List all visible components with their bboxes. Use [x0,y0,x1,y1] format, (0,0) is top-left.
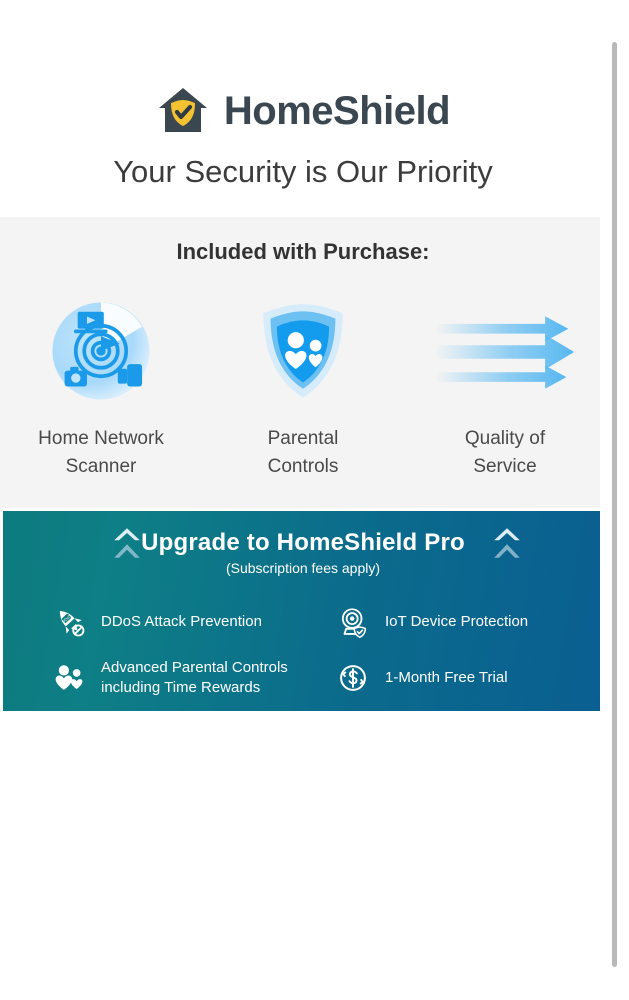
feature-label: Quality ofService [405,425,605,482]
included-title: Included with Purchase: [0,239,606,265]
pro-feature-label: DDoS Attack Prevention [101,612,262,632]
feature-label: Home NetworkScanner [1,425,201,482]
page-content: HomeShield Your Security is Our Priority… [0,0,606,1000]
pro-feature-grid: DDoS DDoS Attack Prevention [3,598,603,710]
feature-list: Home NetworkScanner [0,291,606,482]
radar-scan-icon [1,291,201,411]
shield-family-icon [203,291,403,411]
dollar-refresh-circle-icon [335,660,371,696]
double-chevron-up-icon [111,525,143,570]
pro-feature-1-month-free-trial: 1-Month Free Trial [335,654,603,702]
rocket-blocked-icon: DDoS [51,604,87,640]
pro-feature-ddos-attack-prevention: DDoS DDoS Attack Prevention [51,598,303,646]
family-people-icon [51,660,87,696]
page-root: HomeShield Your Security is Our Priority… [0,0,629,1000]
pro-feature-label: 1-Month Free Trial [385,668,508,688]
pro-feature-advanced-parental-controls: Advanced Parental Controlsincluding Time… [51,654,303,702]
feature-quality-of-service: Quality ofService [405,291,605,482]
house-shield-check-icon [156,84,210,138]
feature-label: ParentalControls [203,425,403,482]
brand-name: HomeShield [224,91,450,131]
pro-feature-label: IoT Device Protection [385,612,528,632]
feature-home-network-scanner: Home NetworkScanner [1,291,201,482]
vertical-scrollbar[interactable] [600,0,629,1000]
brand-tagline: Your Security is Our Priority [0,154,606,190]
logo-row: HomeShield [0,84,606,138]
included-section: Included with Purchase: [0,217,606,508]
pro-feature-column-left: DDoS DDoS Attack Prevention [3,598,303,710]
scrollbar-thumb[interactable] [612,42,617,967]
speed-arrows-icon [405,291,605,411]
pro-feature-iot-device-protection: IoT Device Protection [335,598,603,646]
upgrade-pro-banner[interactable]: Upgrade to HomeShield Pro (Subscription … [3,511,603,711]
pro-feature-label: Advanced Parental Controlsincluding Time… [101,658,288,697]
double-chevron-up-icon [491,525,523,570]
feature-parental-controls: ParentalControls [203,291,403,482]
brand-header: HomeShield Your Security is Our Priority [0,0,606,190]
pro-banner-header: Upgrade to HomeShield Pro (Subscription … [3,511,603,576]
webcam-shield-check-icon [335,604,371,640]
pro-feature-column-right: IoT Device Protection 1- [303,598,603,710]
